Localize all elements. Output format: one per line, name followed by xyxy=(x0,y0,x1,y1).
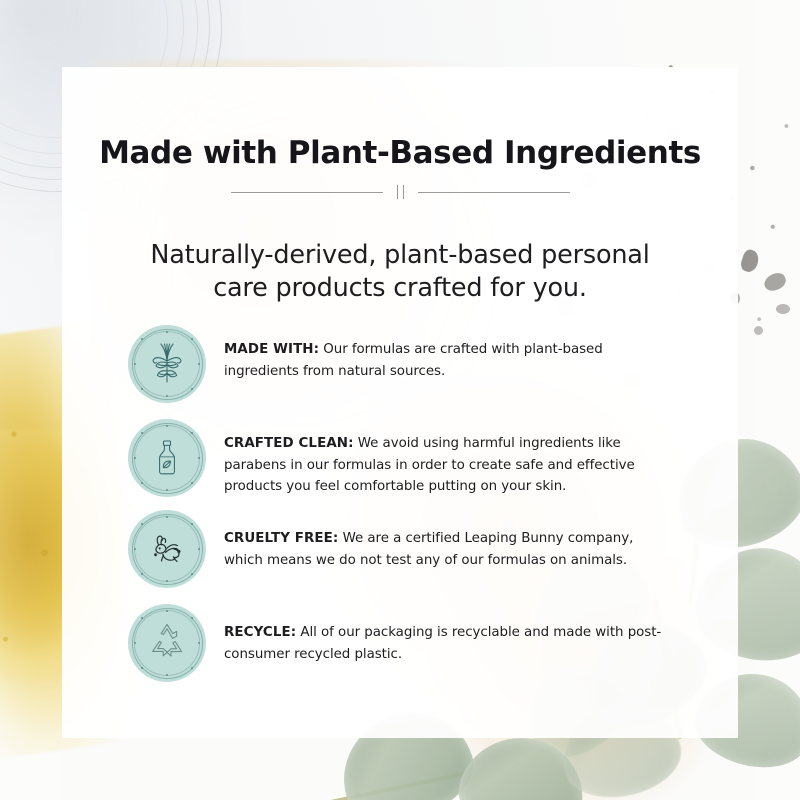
divider-ticks-icon xyxy=(397,185,404,199)
content-card: Made with Plant-Based Ingredients Natura… xyxy=(62,67,738,738)
feature-lead: CRAFTED CLEAN: xyxy=(224,436,354,451)
feature-text: CRUELTY FREE: We are a certified Leaping… xyxy=(224,510,676,571)
plant-icon xyxy=(128,325,206,403)
feature-lead: RECYCLE: xyxy=(224,625,296,640)
feature-item-crafted-clean: CRAFTED CLEAN: We avoid using harmful in… xyxy=(128,419,716,498)
page-title: Made with Plant-Based Ingredients xyxy=(62,136,738,170)
feature-list: MADE WITH: Our formulas are crafted with… xyxy=(128,325,716,696)
feature-item-made-with: MADE WITH: Our formulas are crafted with… xyxy=(128,325,716,403)
title-divider xyxy=(220,185,580,199)
page-subtitle: Naturally-derived, plant-based personal … xyxy=(120,239,680,307)
divider-line-left xyxy=(231,192,383,193)
promo-graphic: Made with Plant-Based Ingredients Natura… xyxy=(0,0,800,800)
feature-lead: MADE WITH: xyxy=(224,342,319,357)
feature-text: RECYCLE: All of our packaging is recycla… xyxy=(224,604,676,665)
leaping-bunny-icon xyxy=(128,510,206,588)
feature-text: MADE WITH: Our formulas are crafted with… xyxy=(224,325,676,382)
feature-text: CRAFTED CLEAN: We avoid using harmful in… xyxy=(224,419,676,498)
feature-item-recycle: RECYCLE: All of our packaging is recycla… xyxy=(128,604,716,682)
bottle-leaf-icon xyxy=(128,419,206,497)
divider-line-right xyxy=(418,192,570,193)
feature-lead: CRUELTY FREE: xyxy=(224,531,338,546)
recycle-icon xyxy=(128,604,206,682)
feature-item-cruelty-free: CRUELTY FREE: We are a certified Leaping… xyxy=(128,510,716,588)
